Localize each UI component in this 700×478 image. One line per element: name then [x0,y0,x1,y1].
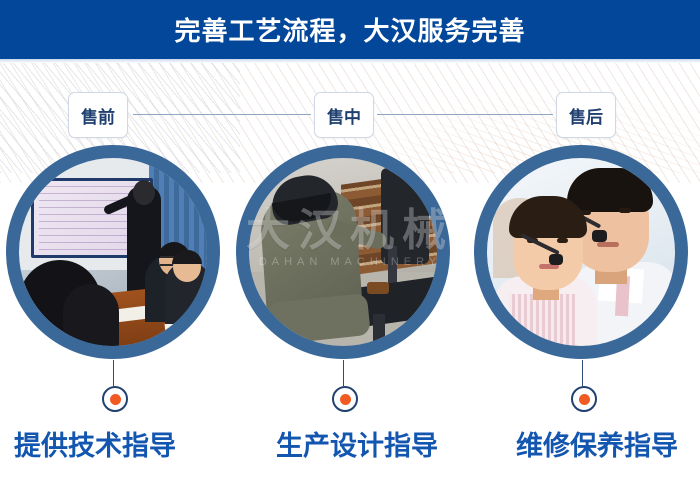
stage-chip-insale[interactable]: 售中 [314,92,374,138]
marker-stem-1 [113,360,114,386]
header-banner: 完善工艺流程，大汉服务完善 [0,0,700,59]
stage-caption-insale: 生产设计指导 [276,424,438,463]
banner-underline [0,59,700,63]
stage-photo-presale[interactable] [6,145,220,359]
page-title: 完善工艺流程，大汉服务完善 [174,11,525,48]
marker-inner-dot [110,394,121,405]
marker-inner-dot [579,394,590,405]
stage-caption-presale: 提供技术指导 [14,424,176,463]
marker-stem-2 [343,360,344,386]
connector-line-1 [133,114,311,115]
marker-dot-2 [332,386,358,412]
stage-chip-aftersale[interactable]: 售后 [556,92,616,138]
stage-chip-presale[interactable]: 售前 [68,92,128,138]
stage-chip-label: 售前 [81,103,115,128]
marker-dot-3 [571,386,597,412]
photo-ring-frame [236,145,450,359]
marker-dot-1 [102,386,128,412]
stage-chip-label: 售中 [327,103,361,128]
stage-photo-insale[interactable] [236,145,450,359]
stage-photo-aftersale[interactable] [474,145,688,359]
photo-ring-frame [6,145,220,359]
marker-inner-dot [340,394,351,405]
promo-banner-page: 完善工艺流程，大汉服务完善 售前 售中 售后 [0,0,700,478]
stage-chip-label: 售后 [569,103,603,128]
stage-caption-aftersale: 维修保养指导 [516,424,678,463]
marker-stem-3 [582,360,583,386]
connector-line-2 [377,114,553,115]
photo-ring-frame [474,145,688,359]
